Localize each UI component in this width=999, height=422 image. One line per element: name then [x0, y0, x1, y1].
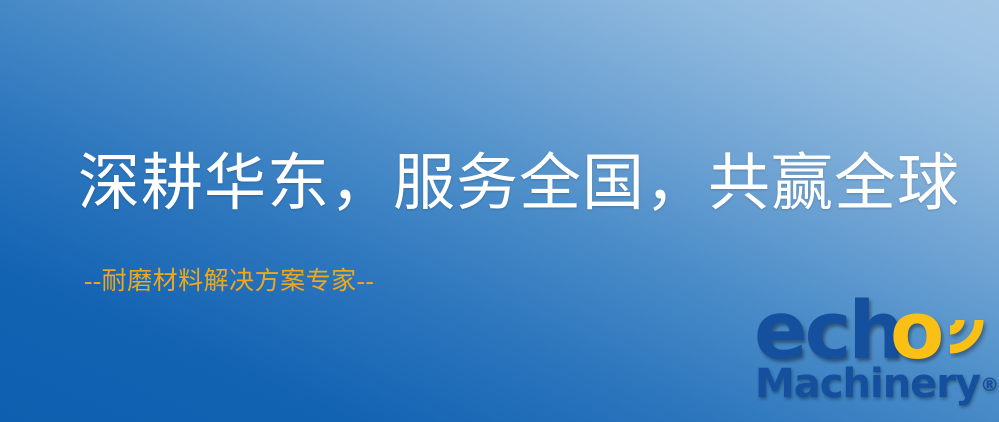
banner-subtitle: --耐磨材料解决方案专家-- [84, 268, 374, 296]
company-logo[interactable]: ech o Machinery® [748, 296, 999, 422]
logo-text-machinery: Machinery® [755, 364, 999, 404]
registered-trademark-icon: ® [980, 374, 999, 396]
logo-machinery-word: Machinery [755, 361, 980, 407]
logo-text-ech: ech [754, 292, 902, 371]
hero-banner: 深耕华东，服务全国，共赢全球 --耐磨材料解决方案专家-- ech o Mach… [0, 0, 999, 422]
banner-headline: 深耕华东，服务全国，共赢全球 [78, 152, 960, 217]
signal-arcs-icon [928, 286, 999, 358]
